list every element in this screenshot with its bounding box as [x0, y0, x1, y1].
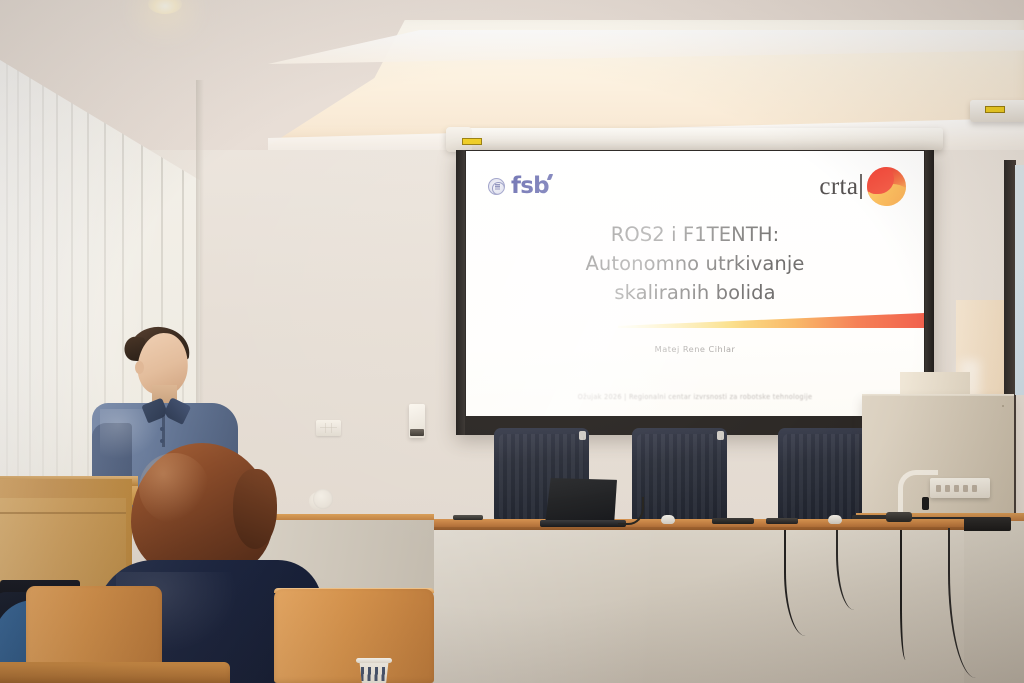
- door-glass: [1015, 165, 1024, 395]
- desk-remote[interactable]: [453, 515, 483, 520]
- slide-title-line-2: Autonomno utrkivanje: [466, 250, 924, 279]
- fsb-logo: fsb: [488, 175, 549, 198]
- computer-mouse[interactable]: [828, 515, 842, 524]
- computer-mouse[interactable]: [661, 515, 675, 524]
- fsb-accent-tick-icon: [547, 174, 553, 180]
- lecture-hall-photo: fsb crta ROS2 i F1TENTH: Autonomno utrki…: [0, 0, 1024, 683]
- slide-footer: Ožujak 2026 | Regionalni centar izvrsnos…: [466, 393, 924, 401]
- fsb-wordmark: fsb: [511, 175, 549, 198]
- power-adapter: [922, 497, 929, 510]
- laptop-keyboard-base[interactable]: [540, 520, 626, 527]
- power-socket: [972, 485, 977, 492]
- presenter-shirt-button: [160, 439, 164, 443]
- crta-wordmark: crta: [819, 174, 858, 199]
- chair-headrest-highlight: [717, 431, 724, 440]
- crta-circle-mark-icon: [867, 167, 906, 206]
- presenter-ear: [135, 361, 144, 374]
- crta-divider-bar: [860, 174, 862, 199]
- projection-screen-housing: [446, 128, 943, 150]
- crta-logo: crta: [819, 167, 906, 206]
- slide-title-line-1: ROS2 i F1TENTH:: [466, 221, 924, 250]
- paper-cup-rim: [356, 658, 392, 663]
- power-strip[interactable]: [930, 478, 990, 498]
- panel-chair: [778, 428, 873, 520]
- power-socket: [936, 485, 941, 492]
- wall-control-box[interactable]: [409, 404, 425, 438]
- desk-object: [712, 518, 754, 524]
- laptop-screen[interactable]: [545, 478, 617, 524]
- foreground-chair-back: [274, 589, 434, 683]
- lectern-screw: [1002, 405, 1004, 407]
- slide-gradient-accent-bar: [618, 313, 924, 328]
- slide-title: ROS2 i F1TENTH: Autonomno utrkivanje ska…: [466, 221, 924, 308]
- wall-round-fixture: [313, 489, 333, 509]
- warning-label-icon-2: [985, 106, 1005, 113]
- panel-chair: [632, 428, 727, 520]
- chair-headrest-highlight: [579, 431, 586, 440]
- paper-cup[interactable]: [358, 660, 390, 683]
- floor-cable: [900, 530, 914, 660]
- screen-left-weight-bar: [456, 150, 465, 435]
- slide-author: Matej Rene Cihlar: [466, 344, 924, 354]
- side-lectern-panel: [862, 396, 1014, 516]
- power-socket: [954, 485, 959, 492]
- light-switch-plate[interactable]: [316, 420, 341, 436]
- desk-object: [886, 512, 912, 522]
- presentation-slide: fsb crta ROS2 i F1TENTH: Autonomno utrki…: [466, 151, 924, 416]
- power-socket: [945, 485, 950, 492]
- presenter-shirt-button: [160, 427, 164, 431]
- podium-seam: [0, 512, 126, 514]
- power-socket: [963, 485, 968, 492]
- warning-label-icon: [462, 138, 482, 145]
- desk-object: [766, 518, 798, 524]
- slide-title-line-3: skaliranih bolida: [466, 279, 924, 308]
- fsb-seal-icon: [488, 178, 505, 195]
- foreground-chair-back: [0, 662, 230, 683]
